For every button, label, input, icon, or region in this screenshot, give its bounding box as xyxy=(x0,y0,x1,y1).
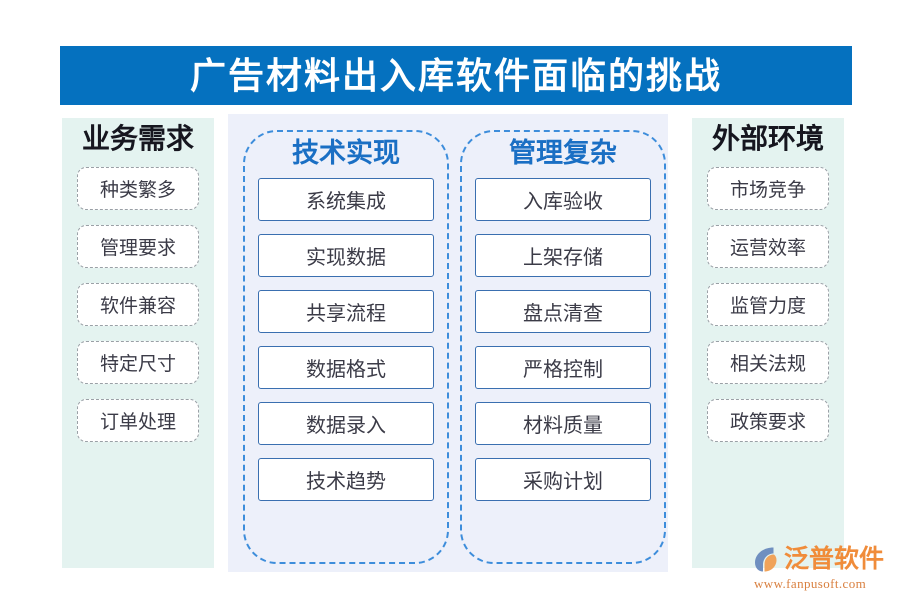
brand-logo: 泛普软件 www.fanpusoft.com xyxy=(752,543,892,593)
item-external-environment-3[interactable]: 相关法规 xyxy=(707,341,829,384)
item-external-environment-2[interactable]: 监管力度 xyxy=(707,283,829,326)
item-external-environment-4[interactable]: 政策要求 xyxy=(707,399,829,442)
column-header-business-requirements: 业务需求 xyxy=(82,126,194,154)
item-business-requirements-0[interactable]: 种类繁多 xyxy=(77,167,199,210)
item-management-complexity-4[interactable]: 材料质量 xyxy=(475,402,651,445)
brand-wordmark: 泛普软件 xyxy=(784,547,884,572)
fanpu-swoosh-icon xyxy=(752,544,782,574)
brand-url: www.fanpusoft.com xyxy=(754,576,892,592)
item-management-complexity-1[interactable]: 上架存储 xyxy=(475,234,651,277)
item-technical-implementation-2[interactable]: 共享流程 xyxy=(258,290,434,333)
item-technical-implementation-5[interactable]: 技术趋势 xyxy=(258,458,434,501)
column-management-complexity: 管理复杂 入库验收 上架存储 盘点清查 严格控制 材料质量 采购计划 xyxy=(460,130,666,564)
item-technical-implementation-1[interactable]: 实现数据 xyxy=(258,234,434,277)
item-external-environment-0[interactable]: 市场竞争 xyxy=(707,167,829,210)
item-management-complexity-5[interactable]: 采购计划 xyxy=(475,458,651,501)
page-title-banner: 广告材料出入库软件面临的挑战 xyxy=(60,46,852,105)
column-business-requirements: 业务需求 种类繁多 管理要求 软件兼容 特定尺寸 订单处理 xyxy=(62,126,214,556)
item-management-complexity-0[interactable]: 入库验收 xyxy=(475,178,651,221)
column-header-management-complexity: 管理复杂 xyxy=(509,140,617,167)
item-business-requirements-4[interactable]: 订单处理 xyxy=(77,399,199,442)
item-external-environment-1[interactable]: 运营效率 xyxy=(707,225,829,268)
column-external-environment: 外部环境 市场竞争 运营效率 监管力度 相关法规 政策要求 xyxy=(692,126,844,556)
column-header-technical-implementation: 技术实现 xyxy=(292,140,400,167)
item-management-complexity-3[interactable]: 严格控制 xyxy=(475,346,651,389)
item-technical-implementation-0[interactable]: 系统集成 xyxy=(258,178,434,221)
infographic-root: 广告材料出入库软件面临的挑战 业务需求 种类繁多 管理要求 软件兼容 特定尺寸 … xyxy=(0,0,900,600)
item-business-requirements-2[interactable]: 软件兼容 xyxy=(77,283,199,326)
page-title: 广告材料出入库软件面临的挑战 xyxy=(190,58,722,94)
brand-logo-row: 泛普软件 xyxy=(752,543,892,575)
item-technical-implementation-3[interactable]: 数据格式 xyxy=(258,346,434,389)
item-technical-implementation-4[interactable]: 数据录入 xyxy=(258,402,434,445)
column-header-external-environment: 外部环境 xyxy=(712,126,824,154)
item-business-requirements-1[interactable]: 管理要求 xyxy=(77,225,199,268)
item-business-requirements-3[interactable]: 特定尺寸 xyxy=(77,341,199,384)
item-management-complexity-2[interactable]: 盘点清查 xyxy=(475,290,651,333)
column-technical-implementation: 技术实现 系统集成 实现数据 共享流程 数据格式 数据录入 技术趋势 xyxy=(243,130,449,564)
